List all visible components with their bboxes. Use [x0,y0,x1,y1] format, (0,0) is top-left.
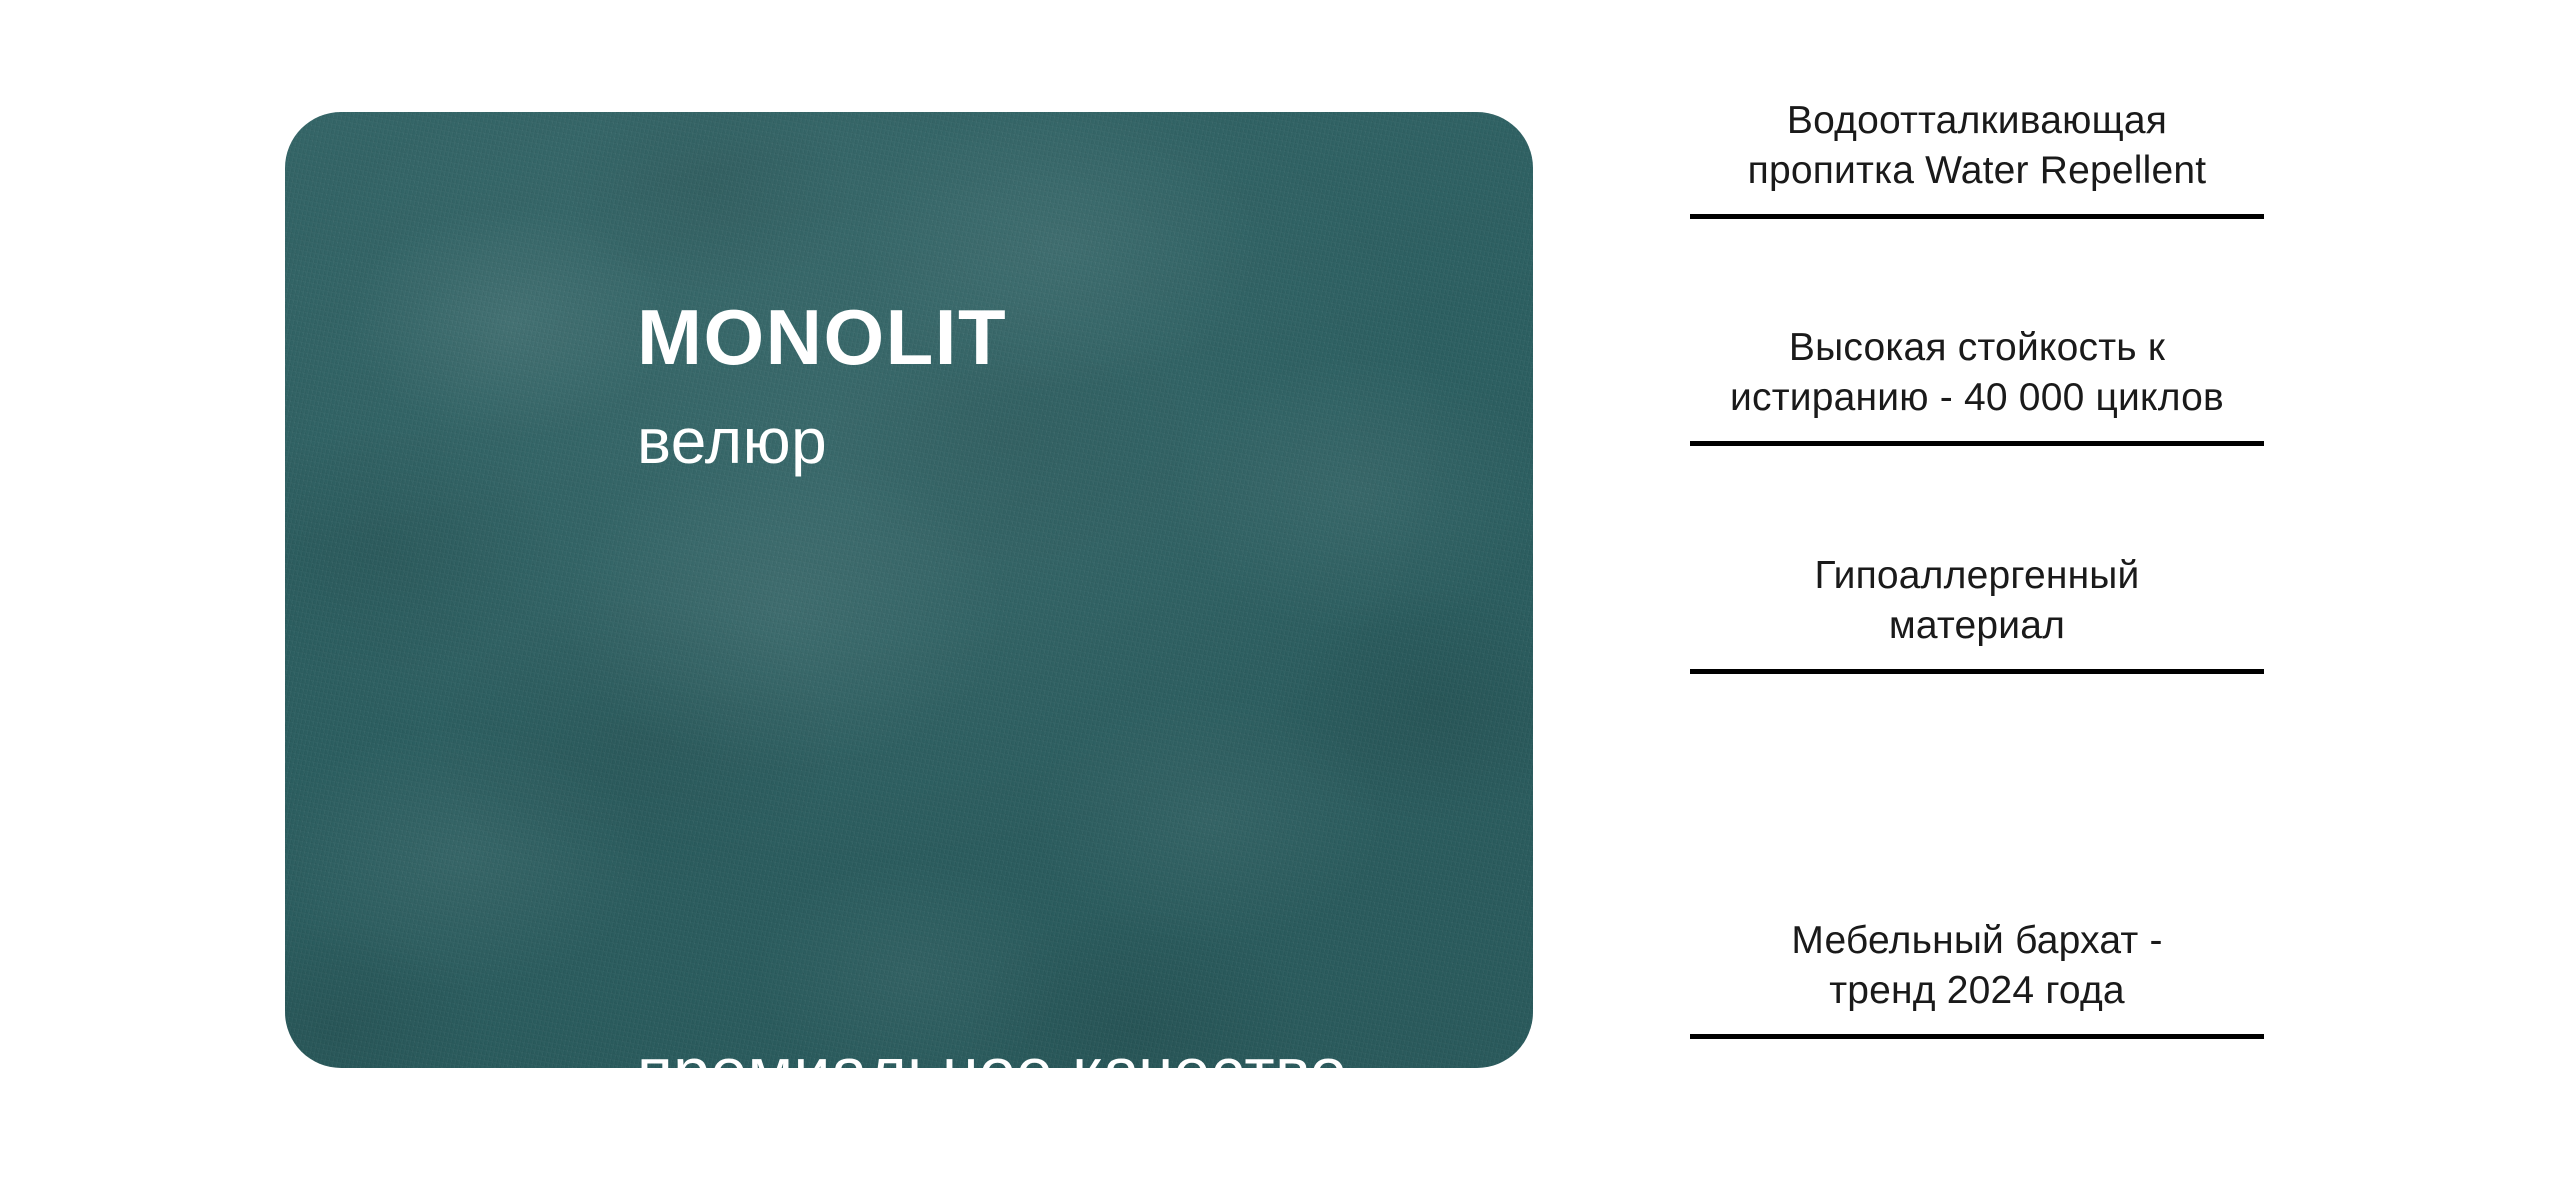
feature-separator [1690,669,2264,674]
feature-line-1: Мебельный бархат - [1791,919,2162,962]
feature-item-hypoallergenic: Гипоаллергенный материал [1690,551,2264,674]
feature-text: Гипоаллергенный материал [1690,551,2264,651]
feature-separator [1690,441,2264,446]
swatch-text-group: MONOLIT велюр премиальное качество [285,112,1533,1068]
brand-title: MONOLIT [637,298,1007,376]
feature-text: Водоотталкивающая пропитка Water Repelle… [1690,96,2264,196]
feature-separator [1690,214,2264,219]
material-subtitle: велюр [637,409,827,473]
feature-text: Высокая стойкость к истиранию - 40 000 ц… [1690,323,2264,423]
feature-line-1: Высокая стойкость к [1789,326,2165,369]
feature-line-2: истиранию - 40 000 циклов [1730,376,2224,419]
quality-tagline: премиальное качество [637,1038,1347,1068]
feature-item-water-repellent: Водоотталкивающая пропитка Water Repelle… [1690,96,2264,219]
feature-item-abrasion-resistance: Высокая стойкость к истиранию - 40 000 ц… [1690,323,2264,446]
fabric-swatch-card: MONOLIT велюр премиальное качество [285,112,1533,1068]
feature-line-2: материал [1889,604,2065,647]
feature-item-trend-2024: Мебельный бархат - тренд 2024 года [1690,916,2264,1039]
feature-line-1: Гипоаллергенный [1814,554,2139,597]
feature-separator [1690,1034,2264,1039]
feature-line-2: пропитка Water Repellent [1748,149,2207,192]
feature-text: Мебельный бархат - тренд 2024 года [1690,916,2264,1016]
feature-line-2: тренд 2024 года [1829,969,2125,1012]
feature-line-1: Водоотталкивающая [1787,99,2167,142]
